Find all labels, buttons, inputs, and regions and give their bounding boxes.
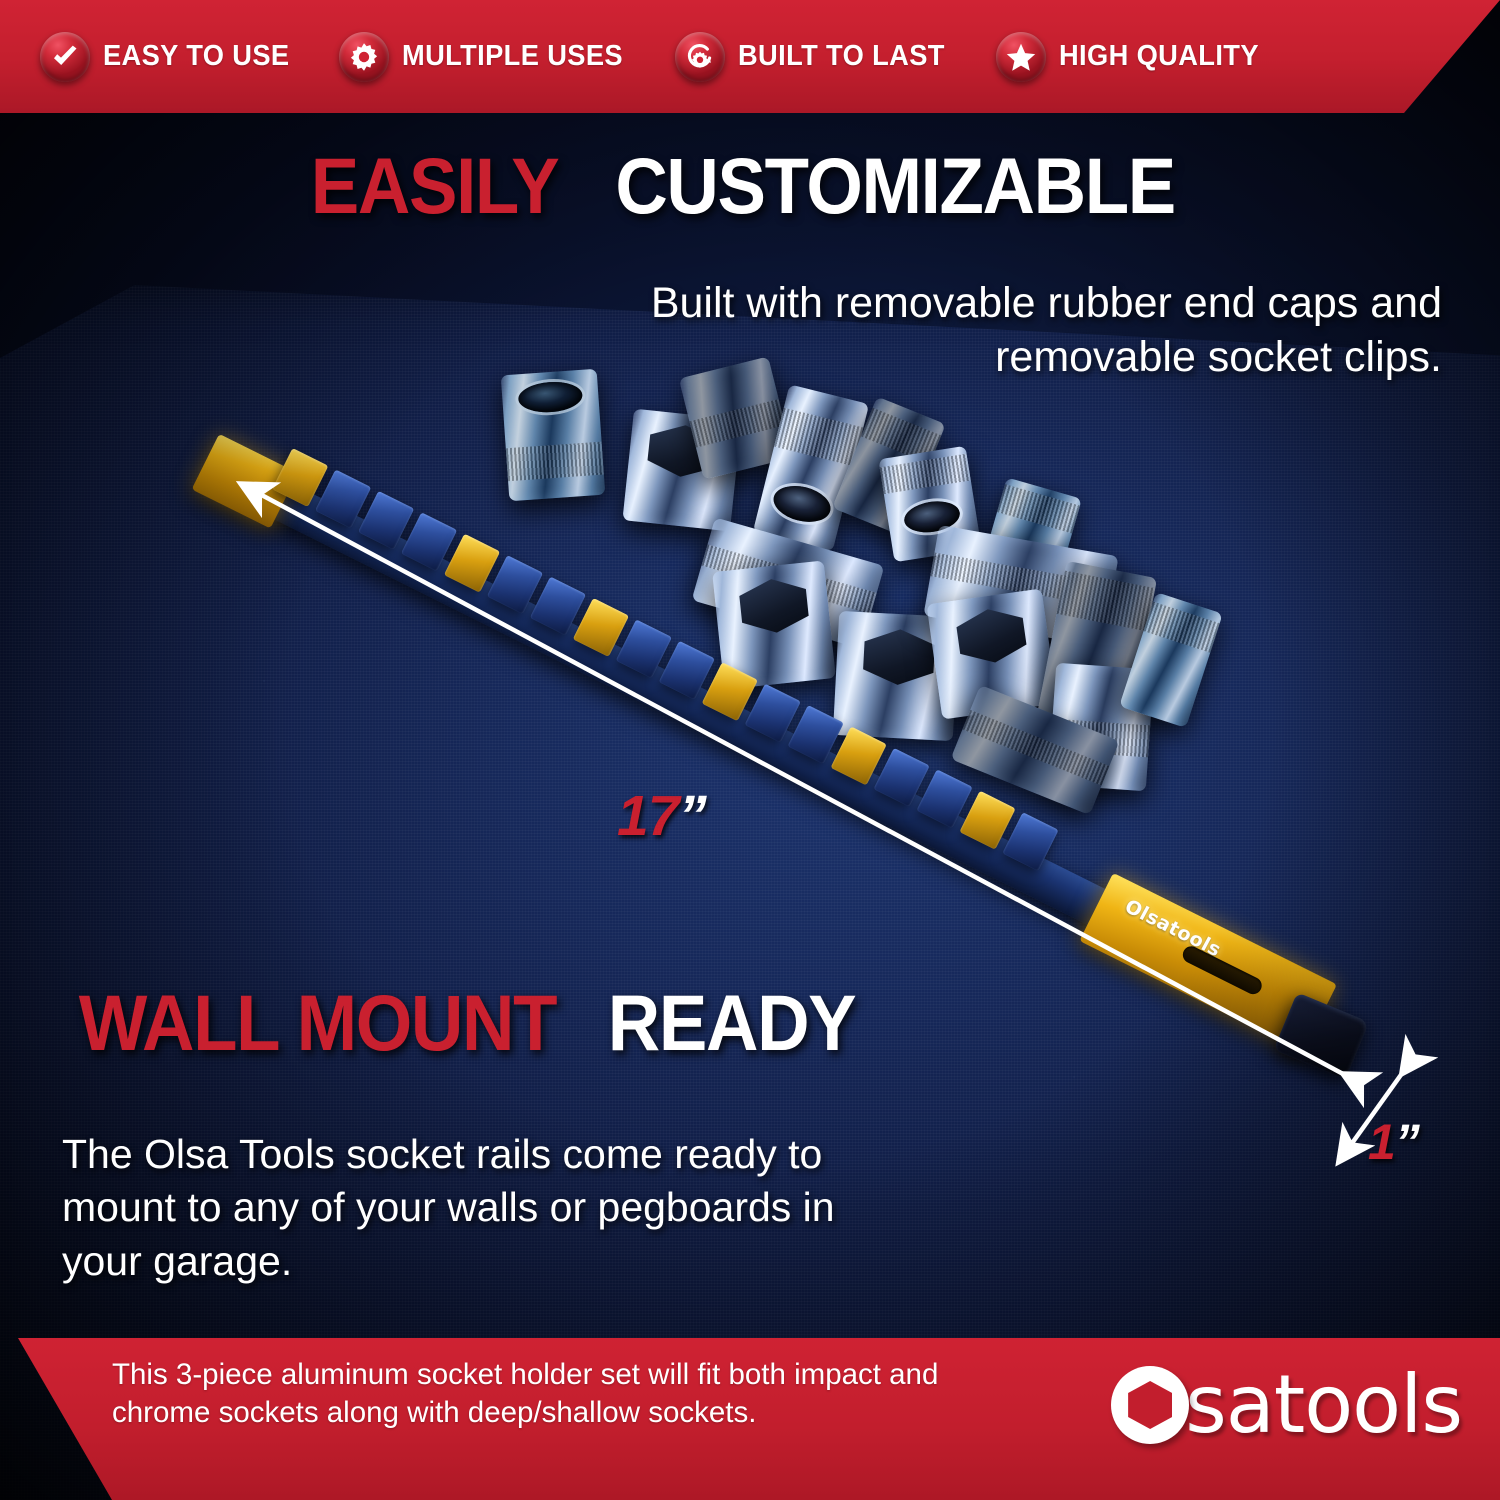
feature-label: MULTIPLE USES [402,40,623,73]
feature-easy-to-use[interactable]: EASY TO USE [40,32,301,82]
length-dimension-label: 17” [617,783,706,849]
wall-mount-title-red: WALL MOUNT [79,983,556,1062]
olsa-tools-logo: satools [1111,1366,1462,1444]
feature-high-quality[interactable]: HIGH QUALITY [996,32,1272,82]
star-icon [996,32,1046,82]
wall-mount-title: WALL MOUNTREADY [58,983,866,1062]
feature-label: HIGH QUALITY [1059,40,1259,73]
infographic-canvas: Olsatools 17” 1” EASY TO [0,0,1500,1500]
footer-bar: This 3-piece aluminum socket holder set … [0,1338,1500,1500]
durability-icon [675,32,725,82]
hex-socket-o-icon [1111,1366,1189,1444]
logo-wordmark: satools [1185,1367,1462,1444]
check-circle-icon [40,32,90,82]
gear-icon [339,32,389,82]
wall-mount-title-white: READY [608,983,856,1062]
wall-mount-body: The Olsa Tools socket rails come ready t… [62,1128,862,1288]
width-dimension-label: 1” [1368,1113,1419,1171]
page-subtitle: Built with removable rubber end caps and… [452,276,1442,384]
feature-bar: EASY TO USE MULTIPLE USES BUILT TO L [0,0,1500,113]
page-title-red: EASILY [311,146,559,225]
feature-label: BUILT TO LAST [738,40,945,73]
page-title-white: CUSTOMIZABLE [616,146,1175,225]
feature-label: EASY TO USE [103,40,289,73]
feature-built-to-last[interactable]: BUILT TO LAST [675,32,958,82]
feature-multiple-uses[interactable]: MULTIPLE USES [339,32,637,82]
page-title: EASILYCUSTOMIZABLE [0,146,1500,225]
footer-description: This 3-piece aluminum socket holder set … [112,1356,972,1432]
